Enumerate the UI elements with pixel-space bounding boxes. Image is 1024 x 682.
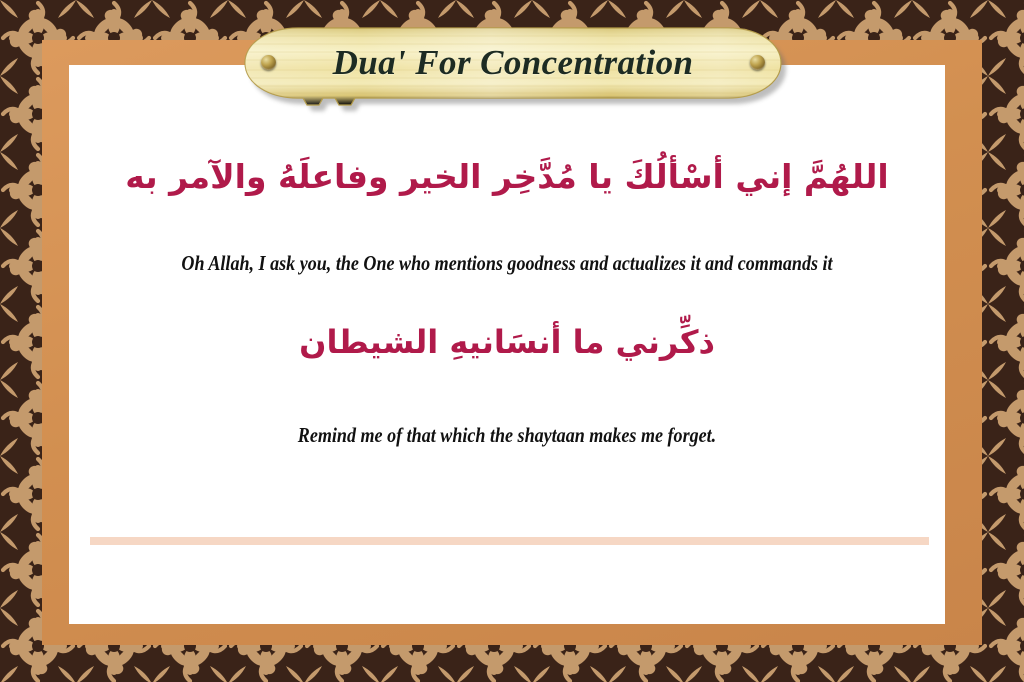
translation-line-1: Oh Allah, I ask you, the One who mention… bbox=[172, 248, 843, 278]
arabic-line-1: اللهُمَّ إني أسْألُكَ يا مُدَّخِر الخير … bbox=[69, 157, 945, 196]
screw-right-icon bbox=[750, 55, 765, 70]
title-plaque: Dua' For Concentration bbox=[243, 26, 783, 110]
page-title: Dua' For Concentration bbox=[243, 26, 783, 100]
arabic-line-2: ذكِّرني ما أنسَانيهِ الشيطان bbox=[69, 323, 945, 361]
screw-left-icon bbox=[261, 55, 276, 70]
translation-line-2: Remind me of that which the shaytaan mak… bbox=[172, 420, 843, 450]
horizontal-divider bbox=[90, 537, 929, 545]
content-panel: اللهُمَّ إني أسْألُكَ يا مُدَّخِر الخير … bbox=[69, 65, 945, 624]
dua-card: اللهُمَّ إني أسْألُكَ يا مُدَّخِر الخير … bbox=[0, 0, 1024, 682]
